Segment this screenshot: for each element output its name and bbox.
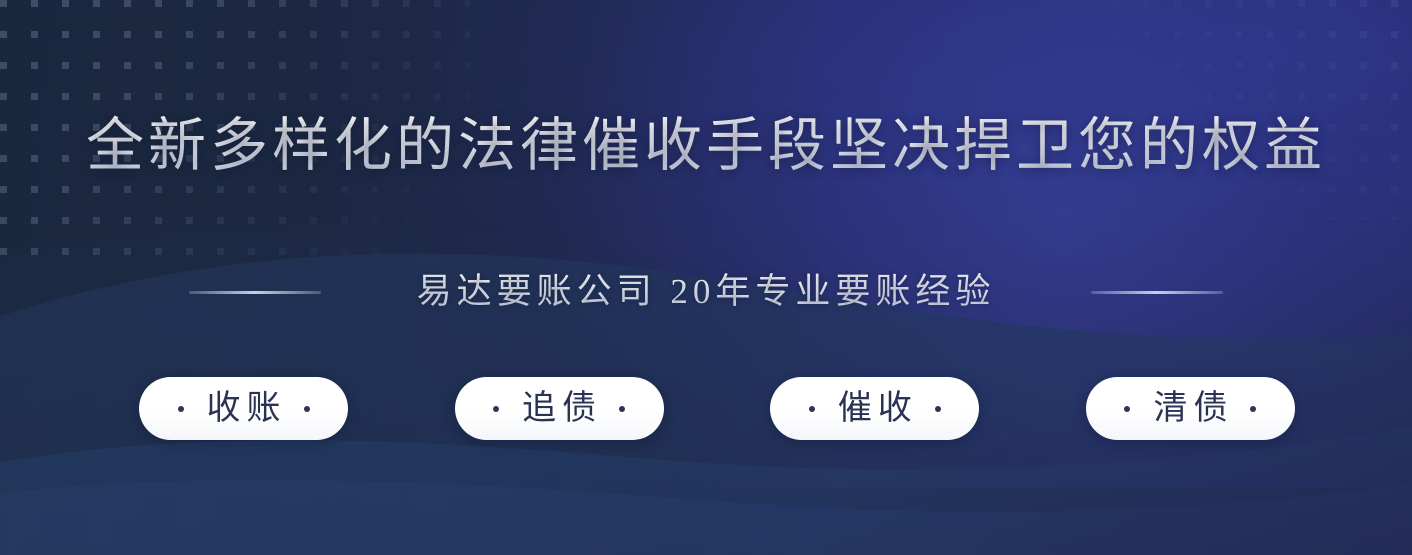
dot-icon xyxy=(935,406,941,412)
dot-icon xyxy=(619,406,625,412)
subtitle-row: 易达要账公司 20年专业要账经验 xyxy=(0,266,1412,318)
dot-icon xyxy=(304,406,310,412)
service-pill-cuishou[interactable]: 催收 xyxy=(770,377,979,440)
service-pill-list: 收账 追债 催收 清债 xyxy=(139,377,1295,440)
service-pill-qingzhai[interactable]: 清债 xyxy=(1086,377,1295,440)
dot-icon xyxy=(1124,406,1130,412)
service-pill-label: 催收 xyxy=(832,389,918,429)
dot-icon xyxy=(809,406,815,412)
dot-icon xyxy=(178,406,184,412)
promo-banner: 全新多样化的法律催收手段坚决捍卫您的权益 易达要账公司 20年专业要账经验 收账… xyxy=(0,0,1412,555)
page-title: 全新多样化的法律催收手段坚决捍卫您的权益 xyxy=(0,108,1412,184)
service-pill-label: 清债 xyxy=(1147,389,1233,429)
dot-icon xyxy=(493,406,499,412)
subtitle: 易达要账公司 20年专业要账经验 xyxy=(417,266,996,318)
service-pill-label: 收账 xyxy=(201,389,287,429)
service-pill-zhuizhai[interactable]: 追债 xyxy=(455,377,664,440)
service-pill-label: 追债 xyxy=(516,389,602,429)
service-pill-shouzhang[interactable]: 收账 xyxy=(139,377,348,440)
dot-icon xyxy=(1250,406,1256,412)
divider-line-right xyxy=(1091,291,1223,294)
divider-line-left xyxy=(189,291,321,294)
